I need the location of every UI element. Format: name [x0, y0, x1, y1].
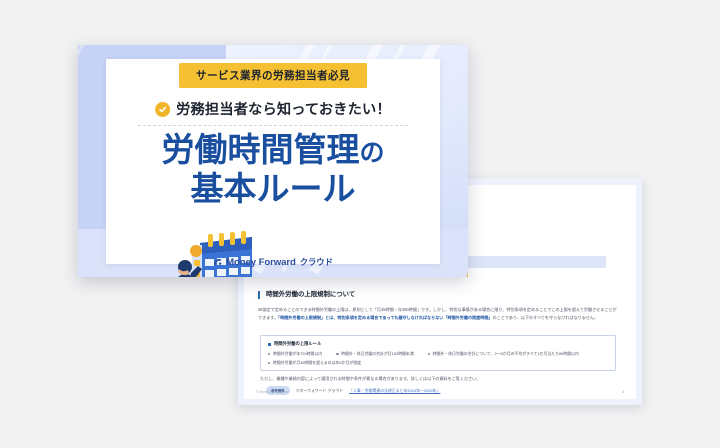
money-forward-mark-icon: [213, 258, 222, 267]
slide1-subtitle-row: 労務担当者なら知っておきたい！: [155, 99, 391, 119]
slide1-title-main: 労働時間管理: [161, 131, 359, 168]
list-item: 時間外・休日労働の合計が月100時間未満: [336, 351, 414, 357]
slide2-reference-prefix: マネーフォワード クラウド: [296, 388, 344, 394]
slide2-body-part2: のことであり、以下のすべてを守らなければなりません。: [493, 315, 598, 320]
list-item: 時間外・休日労働の合計について、2〜6か月の平均がすべて1か月当たり80時間以内: [428, 351, 579, 357]
slide2-body-text: 36協定で定めることのできる時間外労働の上限は、原則として「月45時間・年360…: [258, 306, 620, 322]
labor-time-management-cover-slide[interactable]: サービス業界の労務担当者必見 労務担当者なら知っておきたい！ 労働時間管理の 基…: [78, 45, 468, 277]
slide2-rules-box-title: 時間外労働の上限ルール: [268, 341, 608, 347]
slide2-note-text: ただし、業種や業務内容によって適用される時間や条件が異なる場合があります。詳しく…: [260, 376, 620, 383]
list-item: 時間外労働が月45時間を超えるのは年6か月が限度: [268, 360, 361, 366]
slide1-title-suffix: の: [359, 139, 384, 167]
slide1-title-line2: 基本ルール: [161, 170, 384, 209]
clock-with-businessman-illustration: [450, 241, 468, 277]
screenshot-canvas: 1 働を指します。時間外労働を行うには36協定を締結 金の支払いが発生します。 …: [0, 0, 720, 448]
slide2-rules-bullet-list: 時間外労働が年720時間以内 時間外・休日労働の合計が月100時間未満 時間外・…: [268, 351, 608, 366]
slide2-section-title: 時間外労働の上限規制について: [258, 291, 355, 299]
slide2-reference-link[interactable]: 「人事・労務関連の法改正まとめ2024年〜2025年」: [349, 388, 440, 393]
slide2-page-number: 4: [622, 390, 624, 394]
slide2-body-bold: 「時間外労働の上限規制」とは、特別条項を定める場合であっても厳守しなければならな…: [278, 315, 492, 320]
slide1-title-line1: 労働時間管理の: [161, 131, 384, 170]
list-item: 時間外労働が年720時間以内: [268, 351, 322, 357]
slide2-reference-link-row[interactable]: 参考資料 マネーフォワード クラウド 「人事・労務関連の法改正まとめ2024年〜…: [266, 386, 440, 395]
businessman-calendar-illustration: [166, 231, 258, 277]
check-circle-icon: [155, 102, 170, 117]
slide1-subtitle: 労務担当者なら知っておきたい！: [176, 99, 391, 119]
money-forward-logo-text: Money Forward: [226, 257, 296, 268]
money-forward-logo: Money Forward クラウド: [213, 256, 333, 268]
slide1-divider: [138, 125, 408, 126]
slide2-rules-box: 時間外労働の上限ルール 時間外労働が年720時間以内 時間外・休日労働の合計が月…: [260, 335, 616, 371]
money-forward-logo-sub: クラウド: [300, 256, 333, 268]
page-title: 労働時間管理の 基本ルール: [161, 131, 384, 209]
slide2-footer-copyright: © Money Forward, Inc.: [256, 390, 289, 394]
slide1-audience-badge: サービス業界の労務担当者必見: [179, 63, 367, 88]
